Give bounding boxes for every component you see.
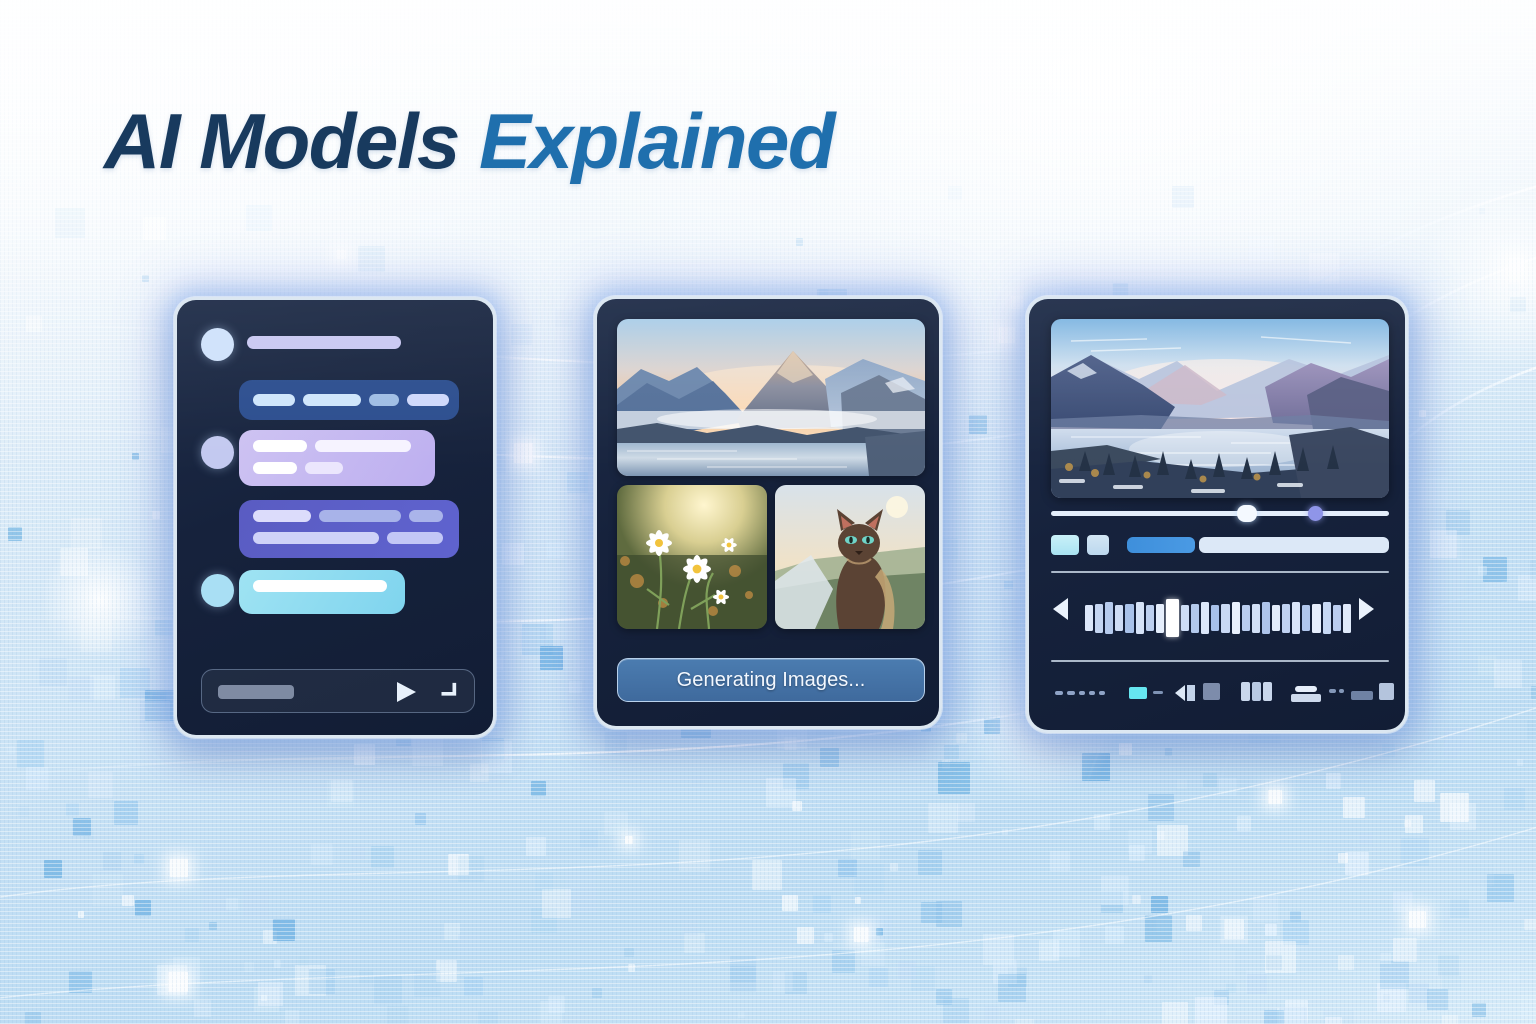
background-pixel	[1226, 983, 1236, 993]
dashes-icon[interactable]	[1089, 691, 1095, 695]
background-pixel	[569, 885, 597, 913]
background-pixel	[140, 701, 170, 731]
background-pixel	[948, 186, 961, 199]
enter-return-icon[interactable]	[436, 681, 458, 703]
background-pixel	[936, 901, 962, 927]
dashes-icon[interactable]	[1067, 691, 1075, 695]
background-pixel	[928, 803, 958, 833]
timeline-frame[interactable]	[1085, 605, 1093, 631]
timeline-frame[interactable]	[1323, 602, 1331, 634]
timeline-frame[interactable]	[1272, 605, 1280, 631]
background-pixel	[209, 922, 217, 930]
background-pixel	[171, 831, 181, 841]
background-pixel	[824, 933, 833, 942]
background-pixel	[1326, 839, 1353, 866]
timeline-frame[interactable]	[1343, 604, 1351, 633]
video-scrubber-track[interactable]	[1051, 511, 1389, 516]
background-pixel	[69, 971, 92, 994]
background-pixel	[152, 694, 166, 708]
background-sparkle	[1409, 911, 1426, 928]
background-pixel	[502, 543, 524, 565]
background-pixel	[1527, 720, 1536, 740]
background-pixel	[908, 743, 926, 761]
background-pixel	[1101, 876, 1129, 904]
background-pixel	[327, 780, 354, 807]
background-pixel	[1233, 821, 1249, 837]
background-pixel	[1343, 797, 1364, 818]
background-pixel	[783, 763, 809, 789]
background-pixel	[641, 808, 650, 817]
background-pixel	[374, 976, 402, 1004]
timeline-frame[interactable]	[1242, 605, 1250, 631]
background-pixel	[526, 837, 545, 856]
background-pixel	[569, 681, 582, 694]
background-pixel	[1004, 581, 1012, 589]
background-pixel	[444, 923, 460, 939]
background-pixel	[71, 518, 102, 549]
background-pixel	[92, 874, 124, 906]
background-pixel	[983, 934, 1014, 965]
background-pixel	[1472, 1003, 1487, 1018]
background-pixel	[1494, 660, 1522, 688]
background-pixel	[1531, 686, 1536, 699]
background-pixel	[1377, 983, 1406, 1012]
background-pixel	[1520, 995, 1536, 1020]
background-sparkle	[1509, 258, 1523, 272]
avatar	[201, 436, 234, 469]
background-pixel	[628, 964, 635, 971]
background-pixel	[1203, 773, 1217, 787]
background-sparkle	[170, 859, 188, 877]
background-pixel	[1335, 735, 1343, 743]
background-pixel	[782, 895, 798, 911]
background-pixel	[1082, 753, 1110, 781]
control-chip[interactable]	[1051, 535, 1079, 555]
background-pixel	[1156, 918, 1170, 932]
message-text-bar	[305, 462, 343, 474]
background-sparkle	[1268, 790, 1282, 804]
background-pixel	[605, 732, 627, 754]
background-pixel	[1442, 971, 1461, 990]
scrubber-handle[interactable]	[1237, 505, 1257, 522]
background-pixel	[738, 1012, 745, 1019]
background-pixel	[1283, 920, 1309, 946]
background-pixel	[60, 548, 87, 575]
background-pixel	[1419, 410, 1426, 417]
background-pixel	[993, 960, 1017, 984]
background-pixel	[1053, 930, 1080, 957]
timeline-frame[interactable]	[1312, 604, 1320, 633]
timeline-frame[interactable]	[1105, 602, 1113, 634]
chat-bubble-assistant[interactable]	[239, 500, 459, 558]
background-pixel	[784, 737, 798, 751]
background-pixel	[566, 871, 594, 899]
background-pixel	[797, 927, 814, 944]
timeline-frame[interactable]	[1136, 602, 1144, 634]
background-pixel	[1050, 851, 1070, 871]
background-pixel	[855, 897, 861, 903]
title-part-one: AI Models	[104, 97, 459, 185]
background-pixel	[1015, 1019, 1033, 1024]
background-pixel	[1478, 566, 1487, 575]
background-pixel	[458, 856, 483, 881]
background-pixel	[1119, 743, 1132, 756]
background-pixel	[152, 511, 160, 519]
progress-fill	[1127, 537, 1195, 553]
background-pixel	[820, 748, 839, 767]
background-pixel	[1148, 794, 1174, 820]
avatar	[201, 574, 234, 607]
chat-input-placeholder	[218, 685, 294, 699]
background-pixel	[130, 976, 145, 991]
background-pixel	[1106, 1009, 1112, 1015]
timeline-frame[interactable]	[1221, 604, 1229, 633]
generating-status-button[interactable]: Generating Images...	[617, 658, 925, 702]
section-divider	[1051, 571, 1389, 573]
background-pixel	[682, 920, 698, 936]
background-pixel	[415, 813, 427, 825]
background-pixel	[1129, 845, 1145, 861]
background-pixel	[1517, 759, 1523, 765]
background-pixel	[309, 969, 335, 995]
background-pixel	[938, 762, 970, 794]
background-pixel	[890, 863, 898, 871]
stack-icon[interactable]	[1295, 686, 1317, 692]
timeline-frame[interactable]	[1282, 604, 1290, 633]
generating-status-label: Generating Images...	[677, 669, 866, 692]
video-preview[interactable]	[1051, 319, 1389, 498]
background-pixel	[351, 846, 365, 860]
background-pixel	[1404, 820, 1411, 827]
background-pixel	[78, 911, 85, 918]
background-pixel	[567, 472, 588, 493]
background-pixel	[1470, 863, 1494, 887]
background-pixel	[354, 744, 375, 765]
background-pixel	[1427, 989, 1448, 1010]
timeline-frame[interactable]	[1252, 604, 1260, 633]
background-pixel	[359, 970, 373, 984]
background-pixel	[869, 937, 878, 946]
background-pixel	[1247, 974, 1267, 994]
background-pixel	[1264, 1010, 1284, 1024]
background-pixel	[1380, 961, 1409, 990]
background-pixel	[1450, 899, 1469, 918]
background-pixel	[132, 453, 138, 459]
background-pixel	[813, 895, 831, 913]
background-pixel	[1020, 768, 1039, 787]
background-pixel	[56, 620, 68, 632]
background-pixel	[428, 920, 435, 927]
timeline-frame[interactable]	[1115, 605, 1123, 631]
background-pixel	[353, 267, 376, 290]
chat-input-bar[interactable]	[201, 669, 475, 713]
background-pixel	[44, 860, 62, 878]
background-pixel	[752, 860, 782, 890]
background-pixel	[592, 988, 602, 998]
background-pixel	[1105, 926, 1124, 945]
background-pixel	[876, 928, 884, 936]
background-pixel	[1518, 575, 1536, 601]
timeline-frame[interactable]	[1095, 604, 1103, 633]
timeline-frame[interactable]	[1292, 602, 1300, 634]
columns-icon[interactable]	[1241, 682, 1250, 701]
send-triangle-icon[interactable]	[397, 682, 416, 702]
background-pixel	[1220, 916, 1248, 944]
background-pixel	[1182, 948, 1200, 966]
background-pixel	[1172, 186, 1194, 208]
timeline-frame[interactable]	[1156, 604, 1164, 633]
background-pixel	[1509, 282, 1520, 293]
background-pixel	[1401, 838, 1429, 866]
generated-image-hero[interactable]	[617, 319, 925, 476]
small-dash-icon[interactable]	[1153, 691, 1163, 694]
timeline-playhead[interactable]	[1166, 599, 1179, 637]
arrow-left-icon[interactable]	[1053, 598, 1068, 620]
background-pixel	[1509, 973, 1519, 983]
background-pixel	[1325, 1017, 1342, 1024]
background-sparkle	[1011, 296, 1023, 308]
timeline-frame[interactable]	[1181, 605, 1189, 631]
background-pixel	[7, 746, 15, 754]
message-text-bar	[253, 394, 295, 406]
background-pixel	[692, 776, 703, 787]
background-pixel	[580, 830, 598, 848]
square-icon[interactable]	[1379, 683, 1394, 700]
background-pixel	[1504, 788, 1526, 810]
background-pixel	[1144, 975, 1152, 983]
image-generation-panel[interactable]: Generating Images...	[594, 296, 942, 729]
background-pixel	[464, 977, 482, 995]
llm-chat-panel[interactable]	[174, 297, 496, 738]
background-pixel	[173, 957, 200, 984]
background-pixel	[1237, 816, 1251, 830]
glow-left	[40, 540, 160, 660]
background-pixel	[535, 873, 554, 892]
background-pixel	[1248, 235, 1273, 260]
background-pixel	[298, 956, 308, 966]
chat-bubble-user[interactable]	[239, 570, 405, 614]
background-pixel	[1039, 940, 1059, 960]
stack-icon[interactable]	[1291, 694, 1321, 702]
background-pixel	[540, 646, 564, 670]
background-pixel	[25, 917, 40, 932]
background-sparkle	[168, 972, 188, 992]
control-chip[interactable]	[1087, 535, 1109, 555]
background-pixel	[1132, 895, 1141, 904]
background-pixel	[542, 889, 571, 918]
background-pixel	[244, 962, 254, 972]
background-pixel	[942, 760, 950, 768]
background-pixel	[546, 620, 566, 640]
background-pixel	[869, 968, 888, 987]
background-pixel	[548, 996, 565, 1013]
background-pixel	[371, 846, 394, 869]
tiny-dash-icon[interactable]	[1339, 689, 1344, 693]
chat-bubble-assistant[interactable]	[239, 380, 459, 420]
generated-image-daisies[interactable]	[617, 485, 767, 629]
background-sparkle	[625, 836, 633, 844]
background-pixel	[26, 767, 49, 790]
background-pixel	[387, 1006, 408, 1024]
background-pixel	[1265, 941, 1296, 972]
page-title: AI Models Explained	[104, 96, 834, 187]
timeline-frame[interactable]	[1333, 605, 1341, 631]
background-pixel	[263, 930, 277, 944]
background-pixel	[311, 844, 333, 866]
background-pixel	[1524, 919, 1535, 930]
arrow-right-icon[interactable]	[1359, 598, 1374, 620]
background-pixel	[943, 998, 969, 1024]
generated-image-cat[interactable]	[775, 485, 925, 629]
background-sparkle	[336, 250, 345, 259]
background-pixel	[1530, 560, 1536, 580]
columns-icon[interactable]	[1252, 682, 1261, 701]
background-pixel	[944, 745, 958, 759]
background-pixel	[273, 919, 295, 941]
background-pixel	[73, 818, 91, 836]
background-pixel	[1101, 891, 1123, 913]
background-pixel	[1151, 896, 1168, 913]
background-pixel	[1209, 950, 1235, 976]
timeline-frame[interactable]	[1262, 602, 1270, 634]
timeline-frame[interactable]	[1125, 604, 1133, 633]
bar-icon[interactable]	[1351, 691, 1373, 700]
background-pixel	[1510, 297, 1525, 312]
video-editor-panel[interactable]	[1026, 296, 1408, 733]
background-pixel	[26, 316, 41, 331]
background-pixel	[684, 933, 704, 953]
background-pixel	[1266, 955, 1281, 970]
background-pixel	[679, 840, 710, 871]
background-pixel	[1483, 557, 1508, 582]
timeline-frame[interactable]	[1302, 605, 1310, 631]
message-text-bar	[253, 440, 307, 452]
dashes-icon[interactable]	[1055, 691, 1063, 695]
video-bottom-toolbar[interactable]	[1051, 677, 1389, 711]
background-pixel	[1409, 983, 1429, 1003]
message-text-bar	[247, 336, 401, 349]
background-pixel	[66, 803, 79, 816]
background-pixel	[998, 974, 1026, 1002]
background-pixel	[555, 310, 572, 327]
timeline-frame[interactable]	[1146, 605, 1154, 631]
background-pixel	[1393, 938, 1417, 962]
background-pixel	[155, 620, 172, 637]
background-pixel	[1359, 833, 1372, 846]
timeline-frame[interactable]	[1191, 604, 1199, 633]
background-pixel	[470, 764, 488, 782]
background-pixel	[957, 803, 976, 822]
background-pixel	[419, 212, 443, 236]
background-pixel	[481, 741, 513, 773]
timeline-filmstrip[interactable]	[1085, 599, 1351, 637]
background-pixel	[69, 677, 94, 702]
background-pixel	[120, 668, 150, 698]
background-sparkle	[999, 327, 1015, 343]
background-pixel	[1380, 953, 1391, 964]
progress-track[interactable]	[1199, 537, 1389, 553]
background-pixel	[285, 1010, 299, 1024]
background-pixel	[1195, 997, 1226, 1024]
background-pixel	[134, 854, 144, 864]
dashes-icon[interactable]	[1099, 691, 1105, 695]
background-pixel	[194, 1000, 211, 1017]
background-pixel	[482, 738, 504, 760]
scrubber-marker[interactable]	[1308, 506, 1323, 521]
dashes-icon[interactable]	[1079, 691, 1085, 695]
timeline-frame[interactable]	[1201, 602, 1209, 634]
background-pixel	[792, 801, 802, 811]
background-pixel	[1326, 773, 1341, 788]
background-pixel	[1446, 510, 1470, 534]
background-pixel	[331, 780, 353, 802]
columns-icon[interactable]	[1263, 682, 1272, 701]
background-pixel	[851, 831, 880, 860]
background-pixel	[1224, 919, 1244, 939]
background-pixel	[246, 205, 272, 231]
background-pixel	[1128, 830, 1152, 854]
background-pixel	[18, 806, 29, 817]
background-pixel	[898, 961, 916, 979]
message-text-bar	[319, 510, 401, 522]
background-pixel	[1338, 955, 1354, 971]
tiny-dash-icon[interactable]	[1329, 689, 1336, 693]
background-pixel	[226, 898, 239, 911]
background-pixel	[984, 718, 1000, 734]
message-text-bar	[409, 510, 443, 522]
background-sparkle	[514, 443, 534, 463]
background-pixel	[440, 940, 464, 964]
background-pixel	[1253, 896, 1278, 921]
background-pixel	[122, 895, 133, 906]
background-pixel	[1466, 575, 1486, 595]
background-pixel	[17, 740, 44, 767]
timeline-frame[interactable]	[1232, 602, 1240, 634]
background-pixel	[243, 890, 270, 917]
background-pixel	[185, 928, 199, 942]
highlight-block-icon[interactable]	[1129, 687, 1147, 699]
background-pixel	[624, 948, 634, 958]
background-pixel	[1450, 803, 1476, 829]
background-pixel	[103, 852, 121, 870]
background-pixel	[142, 275, 149, 282]
background-pixel	[145, 690, 175, 720]
message-text-bar	[303, 394, 361, 406]
chat-bubble-user[interactable]	[239, 430, 435, 486]
background-pixel	[1478, 656, 1497, 675]
background-pixel	[1438, 536, 1462, 560]
background-pixel	[540, 1001, 562, 1023]
background-pixel	[1183, 851, 1199, 867]
background-pixel	[143, 217, 166, 240]
rewind-icon[interactable]	[1175, 683, 1197, 703]
background-pixel	[414, 970, 440, 996]
background-pixel	[145, 699, 165, 719]
background-pixel	[39, 658, 67, 686]
background-pixel	[1285, 1000, 1308, 1023]
background-pixel	[1442, 1015, 1458, 1024]
background-pixel	[1145, 915, 1172, 942]
background-pixel	[254, 987, 279, 1012]
background-pixel	[854, 864, 884, 894]
background-pixel	[531, 908, 556, 933]
square-stop-icon[interactable]	[1203, 683, 1220, 700]
background-pixel	[295, 965, 326, 996]
background-pixel	[969, 415, 988, 434]
background-pixel	[114, 801, 138, 825]
background-pixel	[921, 902, 942, 923]
timeline-frame[interactable]	[1211, 605, 1219, 631]
